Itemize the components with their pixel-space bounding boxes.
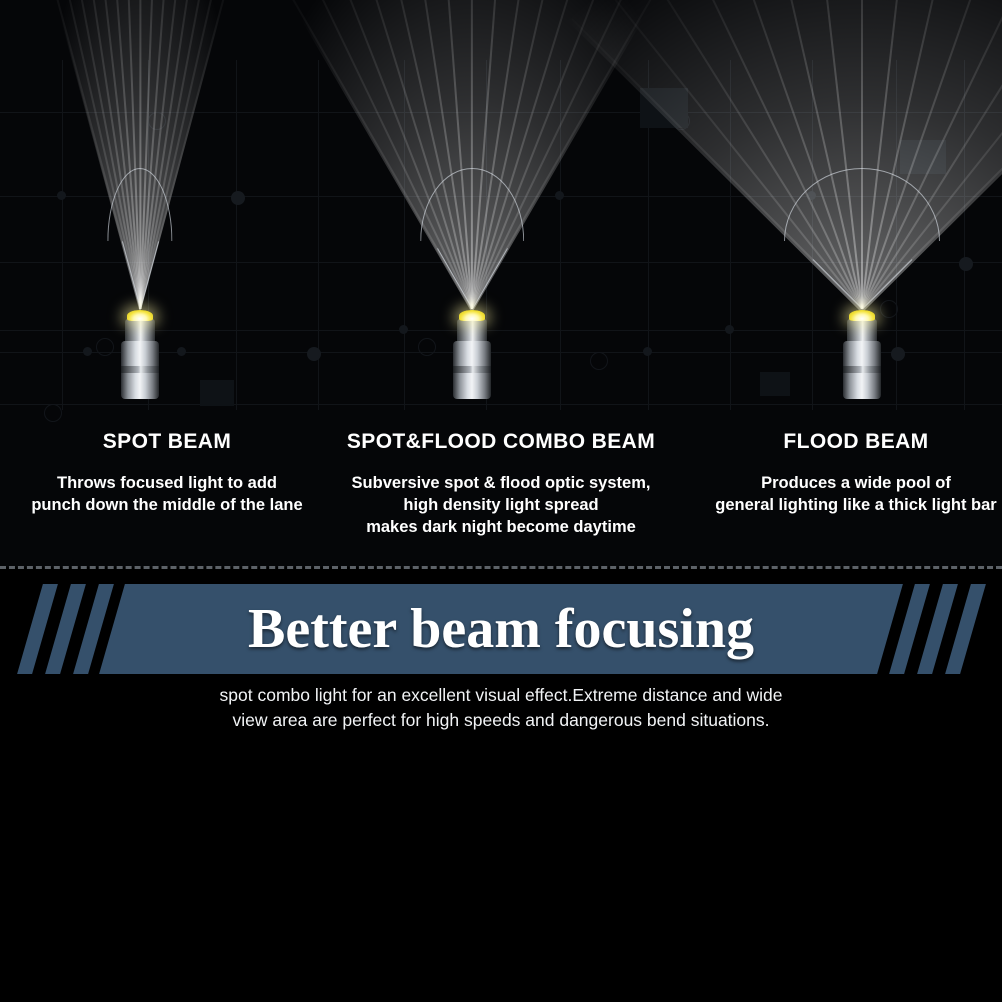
caption-line: general lighting like a thick light bar (686, 494, 1002, 516)
caption-line: makes dark night become daytime (317, 516, 685, 538)
pcb-node (177, 347, 186, 356)
pcb-node (307, 347, 321, 361)
pcb-trace (0, 404, 1002, 405)
led-chip (127, 310, 153, 321)
caption-spot: SPOT BEAM Throws focused light to add pu… (0, 430, 334, 516)
pcb-ring (96, 338, 114, 356)
lamp-ridge (453, 366, 491, 373)
headline-banner: Better beam focusing (0, 584, 1002, 674)
pcb-ring (590, 352, 608, 370)
pcb-node (555, 191, 564, 200)
lamp-ridge (843, 366, 881, 373)
promo-subtitle-line: view area are perfect for high speeds an… (0, 708, 1002, 733)
product-marketing-image: SPOT BEAM Throws focused light to add pu… (0, 0, 1002, 1002)
caption-body: Throws focused light to add punch down t… (0, 472, 334, 516)
lamp-neck (847, 319, 877, 341)
led-chip (849, 310, 875, 321)
pcb-trace (730, 60, 731, 410)
pcb-node (83, 347, 92, 356)
headline-text: Better beam focusing (0, 584, 1002, 674)
pcb-trace (62, 60, 63, 410)
pcb-ring (44, 404, 62, 422)
led-chip (459, 310, 485, 321)
beam-comparison-section: SPOT BEAM Throws focused light to add pu… (0, 0, 1002, 567)
pcb-trace (404, 60, 405, 410)
caption-line: punch down the middle of the lane (0, 494, 334, 516)
pcb-ring (880, 300, 898, 318)
caption-body: Produces a wide pool of general lighting… (686, 472, 1002, 516)
pcb-pad (900, 140, 946, 174)
lamp-neck (125, 319, 155, 341)
caption-title: SPOT&FLOOD COMBO BEAM (317, 430, 685, 454)
lamp-body (452, 309, 492, 399)
caption-body: Subversive spot & flood optic system, hi… (317, 472, 685, 538)
lamp-body (120, 309, 160, 399)
pcb-node (643, 347, 652, 356)
caption-title: SPOT BEAM (0, 430, 334, 454)
pcb-trace (236, 60, 237, 410)
pcb-node (57, 191, 66, 200)
pcb-trace (560, 60, 561, 410)
lamp-ridge (121, 366, 159, 373)
pcb-node (891, 347, 905, 361)
caption-flood: FLOOD BEAM Produces a wide pool of gener… (686, 430, 1002, 516)
caption-combo: SPOT&FLOOD COMBO BEAM Subversive spot & … (317, 430, 685, 538)
pcb-ring (418, 338, 436, 356)
pcb-pad (640, 88, 688, 128)
caption-line: Produces a wide pool of (686, 472, 1002, 494)
caption-line: Throws focused light to add (0, 472, 334, 494)
promo-subtitle-line: spot combo light for an excellent visual… (0, 683, 1002, 708)
pcb-ring (148, 112, 166, 130)
pcb-pad (200, 380, 234, 406)
caption-title: FLOOD BEAM (686, 430, 1002, 454)
lamp-body (842, 309, 882, 399)
promo-subtitle: spot combo light for an excellent visual… (0, 683, 1002, 733)
promo-section: Better beam focusing spot combo light fo… (0, 569, 1002, 1002)
caption-line: Subversive spot & flood optic system, (317, 472, 685, 494)
pcb-trace (0, 262, 1002, 263)
caption-line: high density light spread (317, 494, 685, 516)
pcb-node (725, 325, 734, 334)
pcb-node (399, 325, 408, 334)
pcb-trace (0, 112, 1002, 113)
pcb-pad (760, 372, 790, 396)
lamp-neck (457, 319, 487, 341)
pcb-trace (964, 60, 965, 410)
pcb-node (231, 191, 245, 205)
pcb-node (959, 257, 973, 271)
